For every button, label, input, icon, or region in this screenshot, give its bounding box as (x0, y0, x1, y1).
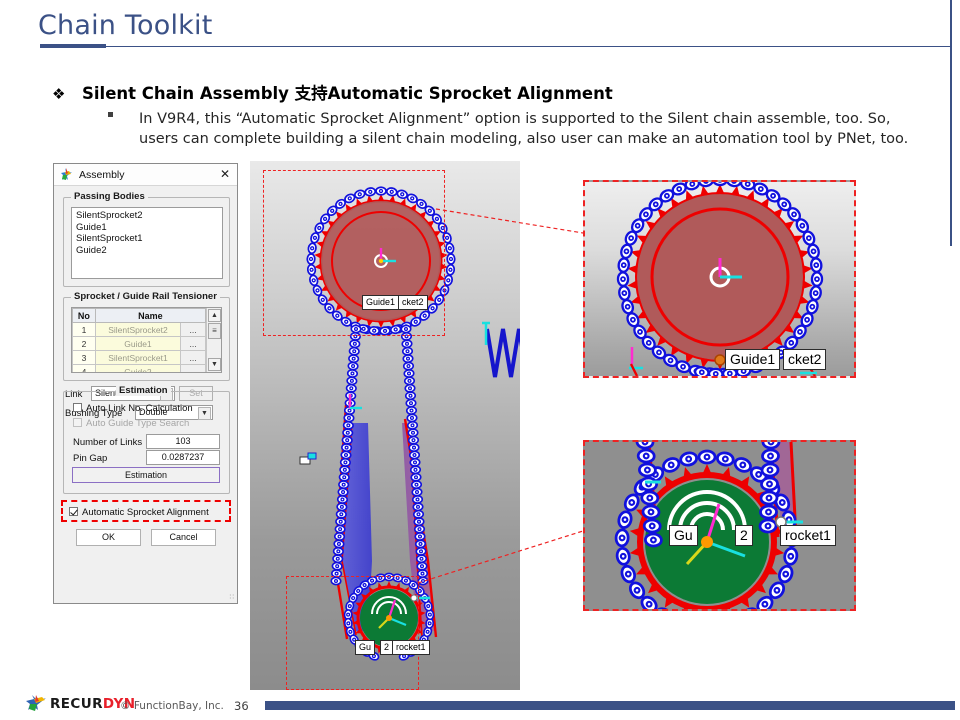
detail-view-bottom-sprocket: Gu 2 rocket1 (583, 440, 856, 611)
square-bullet-icon (108, 112, 113, 117)
auto-link-no-calculation-label: Auto Link No. Calculation (86, 403, 193, 414)
scrollbar-thumb[interactable]: ≡ (208, 323, 221, 339)
auto-guide-type-search-label: Auto Guide Type Search (86, 418, 189, 429)
checkbox-box-checked (69, 507, 78, 516)
browse-button[interactable]: ... (181, 351, 206, 365)
zoom-region-bottom (286, 576, 419, 690)
automatic-sprocket-alignment-checkbox[interactable]: Automatic Sprocket Alignment (69, 507, 209, 518)
detail-tooltip-sprocket2: cket2 (783, 349, 826, 370)
detail-tooltip-guide2-num: 2 (735, 525, 753, 546)
auto-guide-type-search-checkbox: Auto Guide Type Search (73, 418, 189, 429)
bullet-level2-text: In V9R4, this “Automatic Sprocket Alignm… (139, 109, 918, 149)
tooltip-sprocket2: cket2 (398, 295, 428, 310)
dialog-title: Assembly (79, 169, 125, 181)
cell-name[interactable]: Guide2 (95, 365, 180, 374)
footer-accent-bar (265, 701, 955, 710)
bullet-level2: In V9R4, this “Automatic Sprocket Alignm… (108, 109, 918, 149)
sprocket-guide-rail-tensioner-group: Sprocket / Guide Rail Tensioner No Name … (63, 297, 230, 381)
cell-no: 1 (73, 323, 96, 337)
page-number: 36 (234, 699, 249, 713)
scroll-up-icon[interactable]: ▲ (208, 309, 221, 322)
tooltip-sprocket1: rocket1 (392, 640, 430, 655)
page-title: Chain Toolkit (38, 10, 212, 41)
resize-grip-icon[interactable]: ∷ (230, 593, 234, 601)
detail-tooltip-guide2: Gu (669, 525, 698, 546)
cell-no: 3 (73, 351, 96, 365)
automatic-sprocket-alignment-label: Automatic Sprocket Alignment (82, 507, 209, 518)
sprocket-group-legend: Sprocket / Guide Rail Tensioner (71, 291, 220, 302)
list-item[interactable]: Guide1 (76, 222, 218, 234)
cell-name[interactable]: Guide1 (95, 337, 180, 351)
close-icon[interactable]: ✕ (220, 167, 230, 181)
estimation-legend: Estimation (116, 385, 171, 396)
column-header-name: Name (95, 309, 205, 323)
tooltip-guide2: Gu (355, 640, 375, 655)
browse-button[interactable]: ... (181, 365, 206, 374)
detail-view-top-sprocket: Guide1 cket2 (583, 180, 856, 378)
ok-button[interactable]: OK (76, 529, 141, 546)
cell-no: 4 (73, 365, 96, 374)
table-header-row: No Name (73, 309, 206, 323)
passing-bodies-group: Passing Bodies SilentSprocket2 Guide1 Si… (63, 197, 230, 287)
title-divider (40, 46, 950, 47)
detail-tooltip-guide1: Guide1 (725, 349, 780, 370)
3d-viewport[interactable]: Guide1 cket2 Gu 2 rocket1 (250, 161, 520, 690)
list-item[interactable]: SilentSprocket1 (76, 233, 218, 245)
detail-tooltip-sprocket1: rocket1 (780, 525, 836, 546)
table-row[interactable]: 3 SilentSprocket1 ... (73, 351, 206, 365)
cell-name[interactable]: SilentSprocket1 (95, 351, 180, 365)
scroll-down-icon[interactable]: ▼ (208, 358, 221, 371)
checkbox-box (73, 403, 82, 412)
checkbox-box (73, 418, 82, 427)
tooltip-guide1: Guide1 (362, 295, 399, 310)
pin-gap-field[interactable]: 0.0287237 (146, 450, 220, 465)
title-accent-bar (40, 44, 106, 48)
cell-no: 2 (73, 337, 96, 351)
recurdyn-mark-icon (25, 695, 47, 711)
estimation-button[interactable]: Estimation (72, 467, 220, 483)
dialog-titlebar: Assembly ✕ (54, 164, 237, 186)
sprocket-table[interactable]: No Name 1 SilentSprocket2 ... 2 Guide1 .… (71, 307, 222, 373)
copyright-text: © FunctionBay, Inc. (120, 700, 224, 712)
assembly-dialog: Assembly ✕ Passing Bodies SilentSprocket… (53, 163, 238, 604)
column-header-no: No (73, 309, 96, 323)
passing-bodies-legend: Passing Bodies (71, 191, 148, 202)
right-vertical-rule (950, 0, 952, 246)
number-of-links-field[interactable]: 103 (146, 434, 220, 449)
logo-primary: RECUR (50, 696, 103, 712)
automatic-sprocket-alignment-highlight: Automatic Sprocket Alignment (61, 500, 231, 522)
diamond-bullet-icon: ❖ (52, 85, 82, 103)
estimation-group: Estimation Auto Link No. Calculation Aut… (63, 391, 230, 494)
cancel-button[interactable]: Cancel (151, 529, 216, 546)
browse-button[interactable]: ... (181, 337, 206, 351)
table-row[interactable]: 4 Guide2 ... (73, 365, 206, 374)
cell-name[interactable]: SilentSprocket2 (95, 323, 180, 337)
pin-gap-label: Pin Gap (73, 453, 107, 464)
recurdyn-app-icon (60, 168, 73, 181)
passing-bodies-list[interactable]: SilentSprocket2 Guide1 SilentSprocket1 G… (71, 207, 223, 279)
bullet-level1-text: Silent Chain Assembly 支持Automatic Sprock… (82, 84, 613, 103)
auto-link-no-calculation-checkbox[interactable]: Auto Link No. Calculation (73, 403, 193, 414)
list-item[interactable]: SilentSprocket2 (76, 210, 218, 222)
bullet-level1: ❖Silent Chain Assembly 支持Automatic Sproc… (52, 80, 932, 104)
zoom-region-top (263, 170, 445, 336)
table-row[interactable]: 1 SilentSprocket2 ... (73, 323, 206, 337)
number-of-links-label: Number of Links (73, 437, 142, 448)
list-item[interactable]: Guide2 (76, 245, 218, 257)
table-scrollbar[interactable]: ▲ ≡ ▼ (206, 308, 221, 372)
table-row[interactable]: 2 Guide1 ... (73, 337, 206, 351)
browse-button[interactable]: ... (181, 323, 206, 337)
